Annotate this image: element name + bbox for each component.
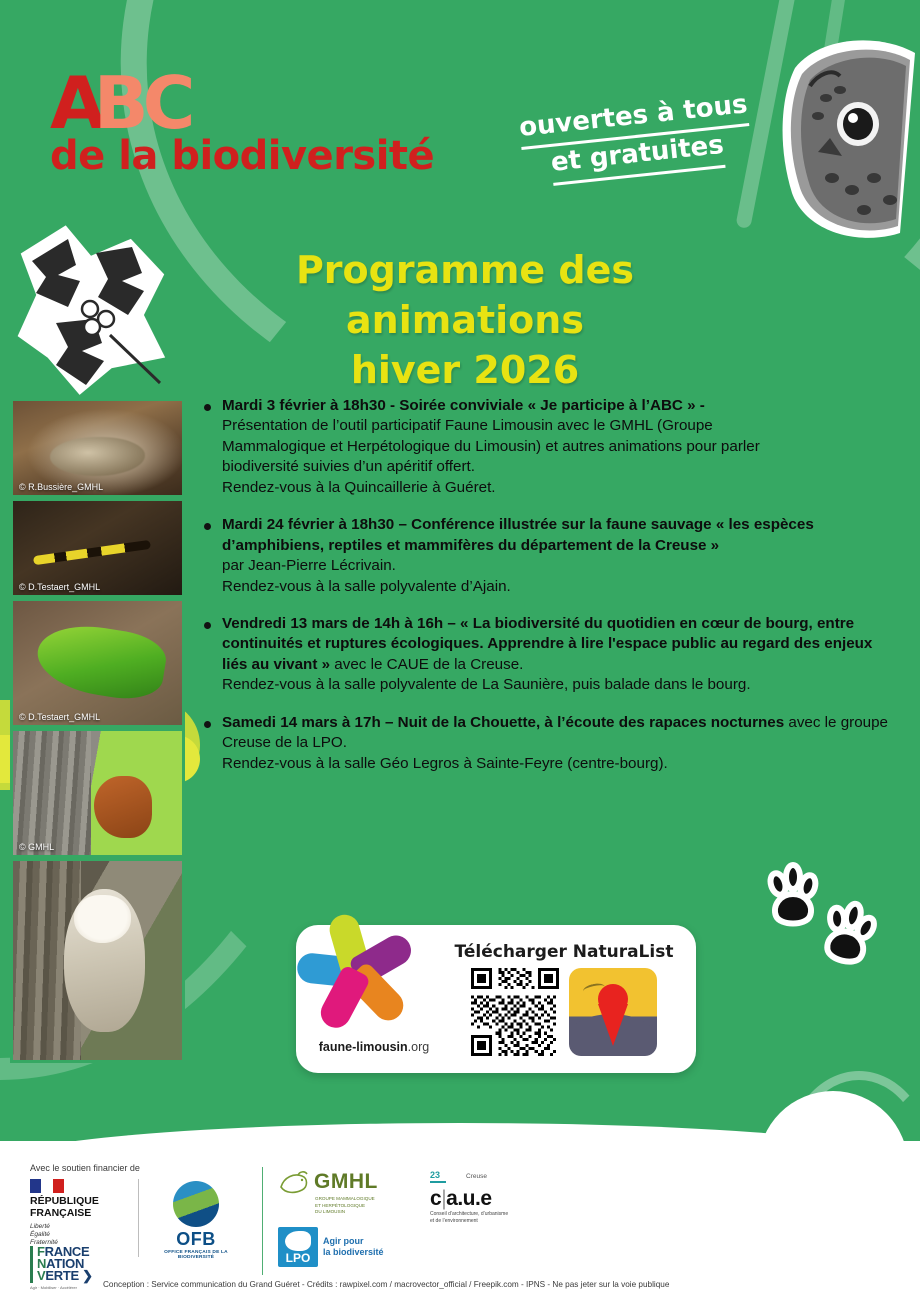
caue-line [430, 1181, 446, 1183]
bullet-icon [204, 404, 211, 411]
gmhl-sub: GROUPE MAMMALOGIQUE ET HERPÉTOLOGIQUE DU… [315, 1196, 406, 1216]
gmhl-name: GMHL [314, 1170, 378, 1194]
rf-name: RÉPUBLIQUE FRANÇAISE [30, 1196, 125, 1220]
salamander-photo: © D.Testaert_GMHL [10, 498, 185, 598]
gmhl-sub-2: ET HERPÉTOLOGIQUE [315, 1203, 406, 1210]
lpo-slogan-2: la biodiversité [323, 1247, 384, 1258]
fnv-line-3: VERTE ❯ [37, 1270, 93, 1282]
title-line-2: hiver 2026 [180, 345, 750, 395]
event-body-line: par Jean-Pierre Lécrivain. [222, 556, 900, 576]
barn-owl-photo [10, 858, 185, 1063]
gmhl-row: GMHL [278, 1169, 406, 1195]
poster-canvas: ABC de la biodiversité ouvertes à tous e… [0, 0, 920, 1301]
qr-code-icon[interactable] [471, 968, 559, 1056]
gmhl-sub-3: DU LIMOUSIN [315, 1209, 406, 1216]
event-heading-bold: Vendredi 13 mars de 14h à 16h – « La bio… [222, 615, 872, 673]
ofb-sub: OFFICE FRANÇAIS DE LA BIODIVERSITÉ [150, 1250, 242, 1260]
photo-strip: © R.Bussière_GMHL © D.Testaert_GMHL © D.… [10, 398, 185, 1063]
faune-limousin-logo[interactable]: faune-limousin.org [296, 944, 446, 1054]
red-squirrel-photo: © GMHL [10, 728, 185, 858]
caue-c: c [430, 1187, 441, 1210]
rf-line-1: RÉPUBLIQUE [30, 1196, 125, 1208]
bullet-icon [204, 721, 211, 728]
lpo-logo: LPO Agir pour la biodiversité [278, 1227, 384, 1267]
rf-line-2: FRANÇAISE [30, 1208, 125, 1220]
lpo-mark-icon: LPO [278, 1227, 318, 1267]
caue-aue: a.u.e [446, 1187, 491, 1210]
holly-branch-illustration-icon [10, 215, 185, 400]
event-body-line: Présentation de l’outil participatif Fau… [222, 416, 900, 436]
abc-logo: ABC de la biodiversité [50, 70, 434, 175]
caue-dept: Creuse [466, 1173, 487, 1180]
event-heading-tail: avec le CAUE de la Creuse. [330, 656, 523, 673]
events-list: Mardi 3 février à 18h30 - Soirée convivi… [200, 396, 900, 791]
decorative-stripe-2 [802, 0, 851, 190]
event-body-line: Rendez-vous à la salle polyvalente d’Aja… [222, 577, 900, 597]
republique-francaise-logo: RÉPUBLIQUE FRANÇAISE Liberté Égalité Fra… [30, 1179, 125, 1247]
event-body-line: Rendez-vous à la salle polyvalente de La… [222, 675, 900, 695]
naturalist-title: Télécharger NaturaList [446, 942, 682, 962]
page-title: Programme des animations hiver 2026 [180, 245, 750, 395]
gmhl-logo: GMHL GROUPE MAMMALOGIQUE ET HERPÉTOLOGIQ… [278, 1169, 406, 1216]
lpo-slogan-1: Agir pour [323, 1236, 384, 1247]
rf-motto-1: Liberté [30, 1223, 125, 1231]
naturalist-app-icon[interactable] [569, 968, 657, 1056]
event-heading: Mardi 24 février à 18h30 – Conférence il… [222, 515, 900, 556]
caue-logo: 23 Creuse c|a.u.e Conseil d’architecture… [430, 1171, 508, 1225]
faune-petals-icon [315, 944, 433, 1038]
faune-caption-rest: .org [408, 1040, 430, 1054]
abc-letters: ABC [50, 70, 434, 136]
caue-main: c|a.u.e [430, 1187, 508, 1211]
ofb-logo: OFB OFFICE FRANÇAIS DE LA BIODIVERSITÉ [150, 1181, 242, 1260]
footer-divider [138, 1179, 139, 1257]
caue-sub-2: et de l’environnement [430, 1218, 508, 1225]
french-flag-icon [30, 1179, 64, 1193]
caue-sub-1: Conseil d’architecture, d’urbanisme [430, 1211, 508, 1218]
photo-credit: © D.Testaert_GMHL [19, 712, 100, 722]
fnv-3b: ERTE ❯ [45, 1268, 92, 1283]
gmhl-sub-1: GROUPE MAMMALOGIQUE [315, 1196, 406, 1203]
bullet-icon [204, 622, 211, 629]
event-item: Mardi 3 février à 18h30 - Soirée convivi… [200, 396, 900, 498]
photo-credit: © R.Bussière_GMHL [19, 482, 103, 492]
fnv-sub: Agir · Mobiliser · Accélérer [30, 1285, 93, 1290]
photo-credit: © D.Testaert_GMHL [19, 582, 100, 592]
faune-caption-bold: faune-limousin [319, 1040, 408, 1054]
gmhl-animal-icon [278, 1169, 310, 1195]
event-item: Mardi 24 février à 18h30 – Conférence il… [200, 515, 900, 597]
photo-credit: © GMHL [19, 842, 54, 852]
ofb-name: OFB [150, 1229, 242, 1250]
free-open-note: ouvertes à tous et gratuites [517, 88, 753, 188]
green-lizard-photo: © D.Testaert_GMHL [10, 598, 185, 728]
naturalist-row [446, 968, 682, 1056]
event-body-line: Rendez-vous à la salle Géo Legros à Sain… [222, 754, 900, 774]
map-pin-icon [598, 984, 628, 1014]
abc-subtitle: de la biodiversité [50, 138, 434, 175]
event-item: Vendredi 13 mars de 14h à 16h – « La bio… [200, 614, 900, 696]
footer-divider [262, 1167, 263, 1275]
event-body-line: biodiversité suivies d’un apéritif offer… [222, 457, 900, 477]
support-label: Avec le soutien financier de [30, 1163, 140, 1173]
lpo-mark-text: LPO [278, 1251, 318, 1265]
event-body-line: Rendez-vous à la Quincaillerie à Guéret. [222, 478, 900, 498]
france-nation-verte-logo: FRANCE NATION VERTE ❯ Agir · Mobiliser ·… [30, 1246, 93, 1290]
title-line-1: Programme des animations [180, 245, 750, 345]
fnv-box: FRANCE NATION VERTE ❯ [30, 1246, 93, 1283]
event-heading: Vendredi 13 mars de 14h à 16h – « La bio… [222, 614, 900, 675]
credits-line: Conception : Service communication du Gr… [103, 1280, 669, 1289]
event-item: Samedi 14 mars à 17h – Nuit de la Chouet… [200, 713, 900, 774]
bullet-icon [204, 523, 211, 530]
faune-limousin-caption: faune-limousin.org [302, 1040, 446, 1054]
event-body-line: Mammalogique et Herpétologique du Limous… [222, 437, 900, 457]
ofb-mark-icon [173, 1181, 219, 1227]
caue-sub: Conseil d’architecture, d’urbanisme et d… [430, 1211, 508, 1225]
lpo-slogan: Agir pour la biodiversité [323, 1236, 384, 1259]
hedgehog-photo: © R.Bussière_GMHL [10, 398, 185, 498]
naturalist-card[interactable]: faune-limousin.org Télécharger NaturaLis… [296, 925, 696, 1073]
event-heading-bold: Samedi 14 mars à 17h – Nuit de la Chouet… [222, 714, 784, 731]
event-heading: Samedi 14 mars à 17h – Nuit de la Chouet… [222, 713, 900, 754]
naturalist-right: Télécharger NaturaList [446, 942, 696, 1056]
footer: Avec le soutien financier de RÉPUBLIQUE … [0, 1141, 920, 1301]
paw-print-icon [762, 862, 824, 928]
event-heading: Mardi 3 février à 18h30 - Soirée convivi… [222, 396, 900, 416]
rf-motto-2: Égalité [30, 1231, 125, 1239]
